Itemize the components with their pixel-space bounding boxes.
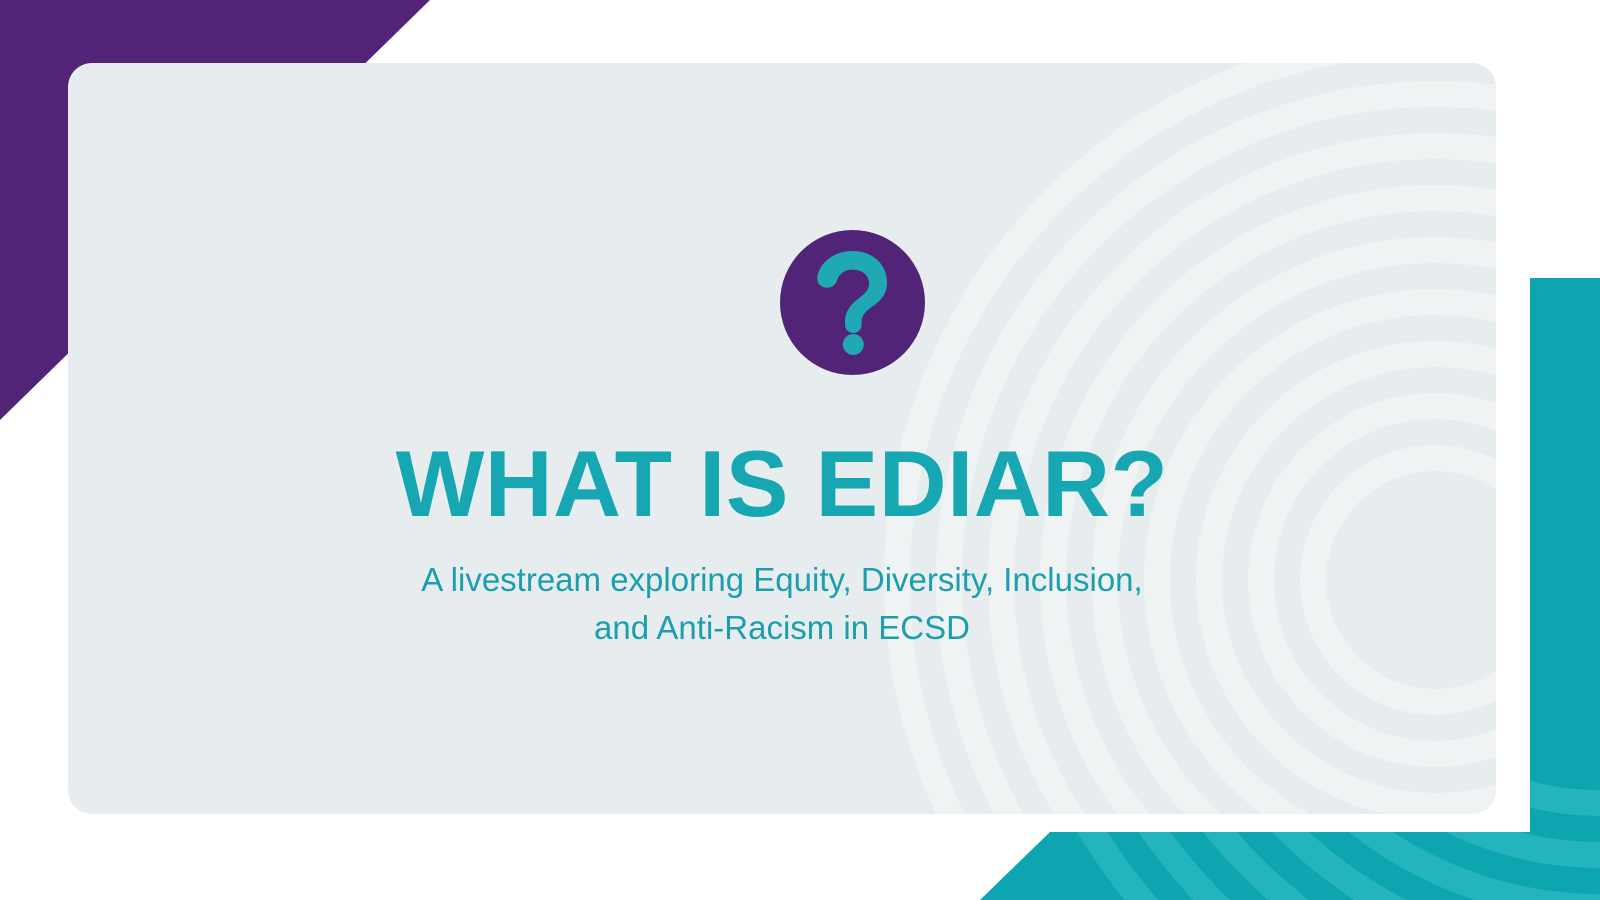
- content-card: WHAT IS EDIAR? A livestream exploring Eq…: [68, 63, 1496, 814]
- card-content: WHAT IS EDIAR? A livestream exploring Eq…: [68, 63, 1496, 814]
- page-subtitle-line-2: and Anti-Racism in ECSD: [68, 604, 1496, 652]
- page-title: WHAT IS EDIAR?: [68, 435, 1496, 534]
- page-subtitle: A livestream exploring Equity, Diversity…: [68, 556, 1496, 652]
- page-subtitle-line-1: A livestream exploring Equity, Diversity…: [68, 556, 1496, 604]
- slide-canvas: WHAT IS EDIAR? A livestream exploring Eq…: [0, 0, 1600, 900]
- question-mark-icon: [780, 230, 925, 375]
